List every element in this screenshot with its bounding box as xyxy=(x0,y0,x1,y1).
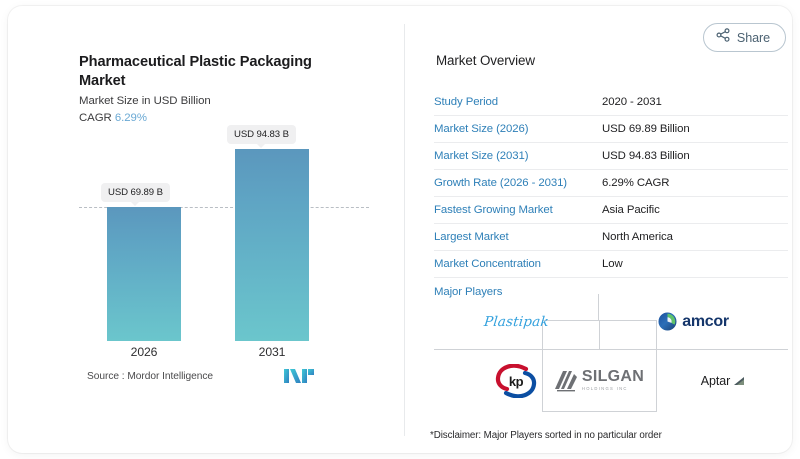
silgan-logo-icon: SILGAN HOLDINGS INC xyxy=(555,369,644,393)
row-key: Fastest Growing Market xyxy=(434,204,602,216)
amcor-wordmark: amcor xyxy=(682,313,729,331)
chart-subtitle: Market Size in USD Billion xyxy=(79,95,211,107)
row-key: Market Size (2026) xyxy=(434,123,602,135)
players-disclaimer: *Disclaimer: Major Players sorted in no … xyxy=(430,430,662,441)
aptar-mark-icon xyxy=(734,376,745,386)
bar-2026[interactable] xyxy=(107,207,181,341)
row-value: North America xyxy=(602,231,673,243)
row-key: Growth Rate (2026 - 2031) xyxy=(434,177,602,189)
mordor-intelligence-logo-icon xyxy=(284,369,314,383)
overview-table: Study Period 2020 - 2031 Market Size (20… xyxy=(434,89,788,305)
table-row: Market Size (2031) USD 94.83 Billion xyxy=(434,143,788,170)
x-tick-2031: 2031 xyxy=(235,345,309,359)
kp-logo-icon: kp xyxy=(493,364,539,398)
chart-cagr: CAGR 6.29% xyxy=(79,112,147,124)
row-key: Market Concentration xyxy=(434,258,602,270)
row-value: Asia Pacific xyxy=(602,204,660,216)
table-row: Growth Rate (2026 - 2031) 6.29% CAGR xyxy=(434,170,788,197)
x-tick-2026: 2026 xyxy=(107,345,181,359)
table-row: Market Size (2026) USD 69.89 Billion xyxy=(434,116,788,143)
chart-title: Pharmaceutical Plastic Packaging Market xyxy=(79,53,339,92)
cagr-label: CAGR xyxy=(79,112,112,124)
player-cell-top-right[interactable]: amcor xyxy=(599,294,788,349)
row-key: Largest Market xyxy=(434,231,602,243)
row-value: USD 69.89 Billion xyxy=(602,123,690,135)
silgan-subtitle: HOLDINGS INC xyxy=(582,387,644,391)
bar-chart-plot: USD 69.89 B USD 94.83 B 2026 2031 xyxy=(79,131,369,341)
row-value: Low xyxy=(602,258,623,270)
overview-panel: Share Market Overview Study Period 2020 … xyxy=(404,6,800,453)
bar-label-2026: USD 69.89 B xyxy=(101,183,170,202)
player-cell-bottom-right[interactable]: Aptar xyxy=(658,350,788,412)
cagr-value: 6.29% xyxy=(115,112,147,124)
share-button-label: Share xyxy=(737,31,770,45)
aptar-logo-icon: Aptar xyxy=(701,374,745,388)
source-line: Source : Mordor Intelligence xyxy=(87,371,213,382)
bar-2031[interactable] xyxy=(235,149,309,341)
kp-wordmark: kp xyxy=(493,364,539,398)
player-cell-top-left[interactable]: Plastipak xyxy=(434,294,598,349)
row-value: 2020 - 2031 xyxy=(602,96,662,108)
plastipak-logo-icon: Plastipak xyxy=(483,314,549,330)
table-row: Study Period 2020 - 2031 xyxy=(434,89,788,116)
table-row: Fastest Growing Market Asia Pacific xyxy=(434,197,788,224)
major-players-grid: Plastipak xyxy=(434,294,788,412)
screenshot-root: Pharmaceutical Plastic Packaging Market … xyxy=(0,0,800,459)
chart-panel: Pharmaceutical Plastic Packaging Market … xyxy=(8,6,404,453)
share-nodes-icon xyxy=(716,28,730,47)
source-name: Mordor Intelligence xyxy=(127,371,213,382)
table-row: Largest Market North America xyxy=(434,224,788,251)
share-button[interactable]: Share xyxy=(703,23,786,52)
source-label: Source : xyxy=(87,371,125,382)
amcor-logo-icon: amcor xyxy=(658,312,729,331)
overview-title: Market Overview xyxy=(436,53,535,68)
player-cell-center[interactable]: SILGAN HOLDINGS INC xyxy=(542,349,657,412)
silgan-wordmark: SILGAN xyxy=(582,369,644,385)
row-key: Study Period xyxy=(434,96,602,108)
table-row: Market Concentration Low xyxy=(434,251,788,278)
bar-label-2031: USD 94.83 B xyxy=(227,125,296,144)
aptar-wordmark: Aptar xyxy=(701,374,730,388)
row-value: 6.29% CAGR xyxy=(602,177,669,189)
report-card: Pharmaceutical Plastic Packaging Market … xyxy=(8,6,792,453)
row-value: USD 94.83 Billion xyxy=(602,150,690,162)
row-key: Market Size (2031) xyxy=(434,150,602,162)
